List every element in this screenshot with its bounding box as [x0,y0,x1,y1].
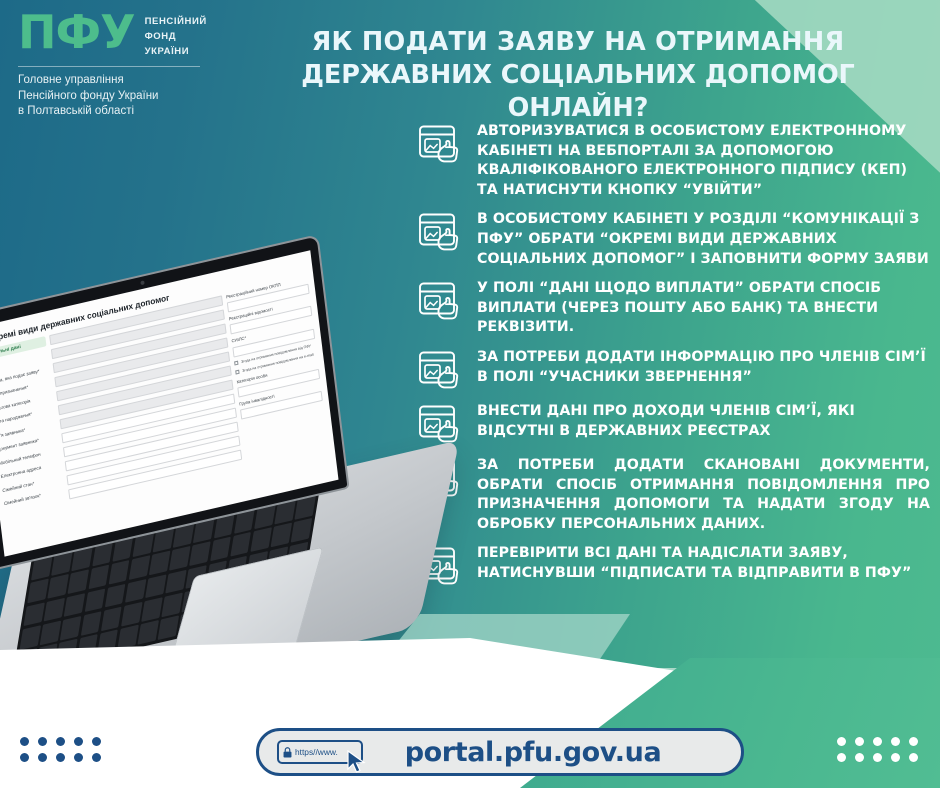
form-right-column: Реєстраційний номер ОКППРеєстраційні від… [226,276,328,463]
keyboard-key [101,606,122,631]
keyboard-key [44,597,65,622]
decor-dot [20,737,29,746]
checkbox-icon[interactable] [234,361,238,366]
keyboard-key [47,574,68,599]
step-text: АВТОРИЗУВАТИСЯ В ОСОБИСТОМУ ЕЛЕКТРОННОМУ… [477,122,930,200]
logo-sub-line-2: ФОНД [145,29,207,44]
step-text: У ПОЛІ “ДАНІ ЩОДО ВИПЛАТИ” ОБРАТИ СПОСІБ… [477,279,930,338]
decor-dot [837,737,846,746]
keyboard-key [165,569,186,594]
keyboard-key [158,616,179,641]
browser-click-icon [418,124,464,166]
title-line-1: ЯК ПОДАТИ ЗАЯВУ НА ОТРИМАННЯ [312,27,845,57]
step-item: ЗА ПОТРЕБИ ДОДАТИ СКАНОВАНІ ДОКУМЕНТИ, О… [418,456,930,534]
keyboard-key [145,574,166,599]
decor-dot [56,737,65,746]
step-item: АВТОРИЗУВАТИСЯ В ОСОБИСТОМУ ЕЛЕКТРОННОМУ… [418,122,930,200]
keyboard-key [117,625,138,650]
keyboard-key [169,546,190,571]
website-url-bar[interactable]: https//www. portal.pfu.gov.ua [256,728,744,776]
mouse-cursor-icon [346,750,368,774]
decor-dots-left [20,737,101,762]
lock-icon [283,747,292,758]
pfu-logo-subtitle: ПЕНСІЙНИЙ ФОНД УКРАЇНИ [145,10,207,59]
keyboard-key [162,592,183,617]
keyboard-key [254,504,275,529]
decor-dot [837,753,846,762]
keyboard-key [129,556,150,581]
keyboard-key [189,542,210,567]
keyboard-key [72,546,93,571]
decor-dot [74,753,83,762]
decor-dot [909,753,918,762]
keyboard-key [173,523,194,548]
keyboard-key [68,570,89,595]
keyboard-key [214,514,235,539]
step-item: В ОСОБИСТОМУ КАБІНЕТІ У РОЗДІЛІ “КОМУНІК… [418,210,930,269]
step-text: ПЕРЕВІРИТИ ВСІ ДАНІ ТА НАДІСЛАТИ ЗАЯВУ, … [477,544,930,583]
keyboard-key [92,542,113,567]
decor-dot [909,737,918,746]
decor-dot [38,753,47,762]
keyboard-key [291,518,312,543]
decor-dot [74,737,83,746]
decor-dot [20,753,29,762]
step-text: В ОСОБИСТОМУ КАБІНЕТІ У РОЗДІЛІ “КОМУНІК… [477,210,930,269]
department-line-3: в Полтавській області [18,104,218,120]
browser-click-icon [418,281,464,323]
webcam-icon [140,280,144,285]
keyboard-key [20,625,41,650]
decor-dot [56,753,65,762]
step-item: ВНЕСТИ ДАНІ ПРО ДОХОДИ ЧЛЕНІВ СІМ’Ї, ЯКІ… [418,402,930,446]
checkbox-icon[interactable] [235,370,239,375]
logo-sub-line-1: ПЕНСІЙНИЙ [145,14,207,29]
keyboard-key [84,588,105,613]
mini-address-text: https//www. [295,747,338,757]
keyboard-key [23,602,44,627]
keyboard-key [60,616,81,641]
logo-sub-line-3: УКРАЇНИ [145,44,207,59]
keyboard-key [132,532,153,557]
logo-divider [18,66,200,67]
pfu-logo-mark: ПФУ [18,10,135,54]
decor-dots-right [837,737,918,762]
decor-dot [855,737,864,746]
step-text: ВНЕСТИ ДАНІ ПРО ДОХОДИ ЧЛЕНІВ СІМ’Ї, ЯКІ… [477,402,930,441]
keyboard-key [51,551,72,576]
keyboard-key [105,583,126,608]
department-name: Головне управління Пенсійного фонду Укра… [18,73,218,120]
brand-logo-block: ПФУ ПЕНСІЙНИЙ ФОНД УКРАЇНИ Головне управ… [18,10,218,120]
steps-list: АВТОРИЗУВАТИСЯ В ОСОБИСТОМУ ЕЛЕКТРОННОМУ… [418,122,930,598]
department-line-1: Головне управління [18,73,218,89]
decor-dot [92,737,101,746]
keyboard-key [193,518,214,543]
decor-dot [38,737,47,746]
keyboard-key [250,528,271,553]
keyboard-key [125,579,146,604]
decor-dot [855,753,864,762]
mini-address-bar[interactable]: https//www. [277,740,363,764]
keyboard-key [121,602,142,627]
keyboard-key [234,509,255,534]
keyboard-key [64,593,85,618]
decor-dot [92,753,101,762]
keyboard-key [80,611,101,636]
decor-dot [891,737,900,746]
step-item: ПЕРЕВІРИТИ ВСІ ДАНІ ТА НАДІСЛАТИ ЗАЯВУ, … [418,544,930,588]
step-text: ЗА ПОТРЕБИ ДОДАТИ ІНФОРМАЦІЮ ПРО ЧЛЕНІВ … [477,348,930,387]
keyboard-key [40,620,61,645]
page-title: ЯК ПОДАТИ ЗАЯВУ НА ОТРИМАННЯ ДЕРЖАВНИХ С… [228,26,928,125]
keyboard-key [230,532,251,557]
department-line-2: Пенсійного фонду України [18,89,218,105]
browser-click-icon [418,212,464,254]
title-line-2: ДЕРЖАВНИХ СОЦІАЛЬНИХ ДОПОМОГ ОНЛАЙН? [228,59,928,125]
infographic-poster: ПФУ ПЕНСІЙНИЙ ФОНД УКРАЇНИ Головне управ… [0,0,940,788]
step-text: ЗА ПОТРЕБИ ДОДАТИ СКАНОВАНІ ДОКУМЕНТИ, О… [477,456,930,534]
keyboard-key [271,523,292,548]
keyboard-key [27,579,48,604]
decor-dot [873,753,882,762]
website-url-text[interactable]: portal.pfu.gov.ua [363,737,723,768]
browser-click-icon [418,350,464,392]
step-item: У ПОЛІ “ДАНІ ЩОДО ВИПЛАТИ” ОБРАТИ СПОСІБ… [418,279,930,338]
keyboard-key [108,560,129,585]
keyboard-key [295,495,316,520]
keyboard-key [112,537,133,562]
keyboard-key [274,500,295,525]
decor-dot [873,737,882,746]
decor-dot [891,753,900,762]
keyboard-key [31,556,52,581]
keyboard-key [137,620,158,645]
keyboard-key [210,537,231,562]
keyboard-key [149,551,170,576]
keyboard-key [88,565,109,590]
keyboard-key [153,528,174,553]
keyboard-key [141,597,162,622]
step-item: ЗА ПОТРЕБИ ДОДАТИ ІНФОРМАЦІЮ ПРО ЧЛЕНІВ … [418,348,930,392]
